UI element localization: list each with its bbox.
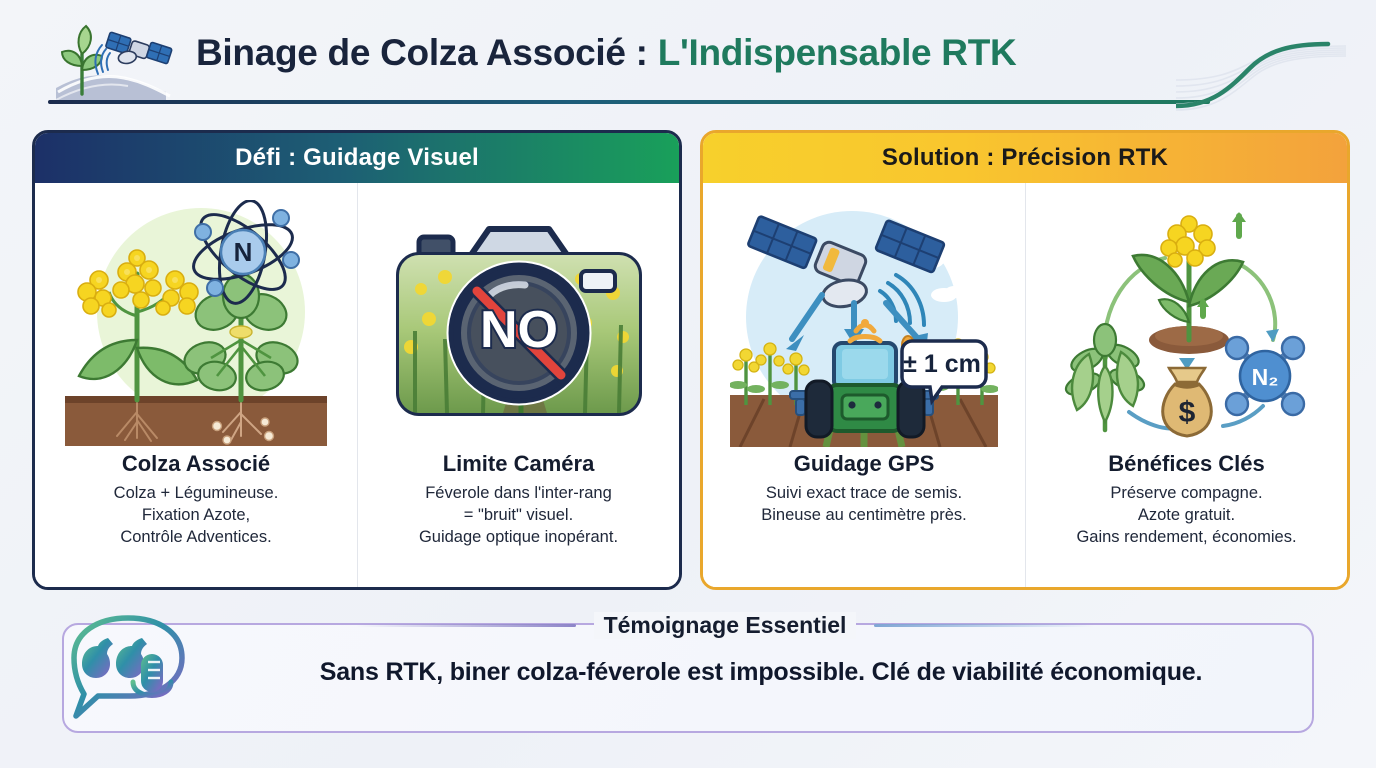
card-benefices-cles[interactable]: $ N₂ [1025, 183, 1347, 587]
card-description: Colza + Légumineuse. Fixation Azote, Con… [114, 483, 279, 548]
panel-challenge-header: Défi : Guidage Visuel [35, 133, 679, 183]
desc-line: Fixation Azote, [114, 505, 279, 527]
benefits-cycle-illustration: $ N₂ [1038, 197, 1335, 449]
testimonial-label: Témoignage Essentiel [594, 612, 857, 639]
page-title-part2: L'Indispensable RTK [658, 32, 1017, 73]
card-description: Préserve compagne. Azote gratuit. Gains … [1076, 483, 1296, 548]
no-label: NO [480, 301, 558, 359]
precision-badge-label: ± 1 cm [903, 350, 981, 378]
desc-line: Préserve compagne. [1076, 483, 1296, 505]
nitrogen-symbol-label: N [234, 237, 253, 267]
desc-line: Colza + Légumineuse. [114, 483, 279, 505]
page-title: Binage de Colza Associé : L'Indispensabl… [196, 32, 1016, 74]
desc-line: Guidage optique inopérant. [419, 527, 618, 549]
money-symbol-label: $ [1178, 396, 1195, 429]
desc-line: Gains rendement, économies. [1076, 527, 1296, 549]
card-title: Colza Associé [122, 451, 270, 477]
card-guidage-gps[interactable]: ± 1 cm Guidage GPS Suivi exact trace de … [703, 183, 1025, 587]
colza-legume-nitrogen-illustration: N [47, 197, 345, 449]
plant-satellite-logo [48, 14, 174, 106]
card-title: Guidage GPS [794, 451, 935, 477]
desc-line: Azote gratuit. [1076, 505, 1296, 527]
desc-line: = "bruit" visuel. [419, 505, 618, 527]
header-divider [48, 100, 1210, 104]
testimonial-rule-right [874, 624, 1094, 627]
desc-line: Bineuse au centimètre près. [761, 505, 966, 527]
infographic-page: Binage de Colza Associé : L'Indispensabl… [0, 0, 1376, 768]
card-colza-associe[interactable]: N Colza Associé Colza + Légumineuse. Fix… [35, 183, 357, 587]
satellite-tractor-gps-illustration: ± 1 cm [715, 197, 1013, 449]
card-title: Bénéfices Clés [1108, 451, 1265, 477]
card-limite-camera[interactable]: NO Limite Caméra Féverole dans l'inter-r… [357, 183, 679, 587]
panel-challenge: Défi : Guidage Visuel [32, 130, 682, 590]
camera-no-prohibited-illustration: NO [370, 197, 667, 449]
dinitrogen-symbol-label: N₂ [1251, 364, 1278, 390]
testimonial-label-row: Témoignage Essentiel [210, 608, 1240, 642]
header-swoosh-decoration [1176, 6, 1376, 114]
testimonial-quote: Sans RTK, biner colza-féverole est impos… [206, 658, 1316, 687]
panel-solution: Solution : Précision RTK [700, 130, 1350, 590]
card-title: Limite Caméra [443, 451, 595, 477]
desc-line: Féverole dans l'inter-rang [419, 483, 618, 505]
page-title-part1: Binage de Colza Associé : [196, 32, 658, 73]
panel-solution-body: ± 1 cm Guidage GPS Suivi exact trace de … [703, 183, 1347, 587]
desc-line: Contrôle Adventices. [114, 527, 279, 549]
panel-solution-header: Solution : Précision RTK [703, 133, 1347, 183]
quote-bubble-microphone-icon [54, 612, 204, 730]
desc-line: Suivi exact trace de semis. [761, 483, 966, 505]
card-description: Suivi exact trace de semis. Bineuse au c… [761, 483, 966, 527]
header: Binage de Colza Associé : L'Indispensabl… [0, 0, 1376, 118]
testimonial-rule-left [356, 624, 576, 627]
card-description: Féverole dans l'inter-rang = "bruit" vis… [419, 483, 618, 548]
panel-challenge-body: N Colza Associé Colza + Légumineuse. Fix… [35, 183, 679, 587]
